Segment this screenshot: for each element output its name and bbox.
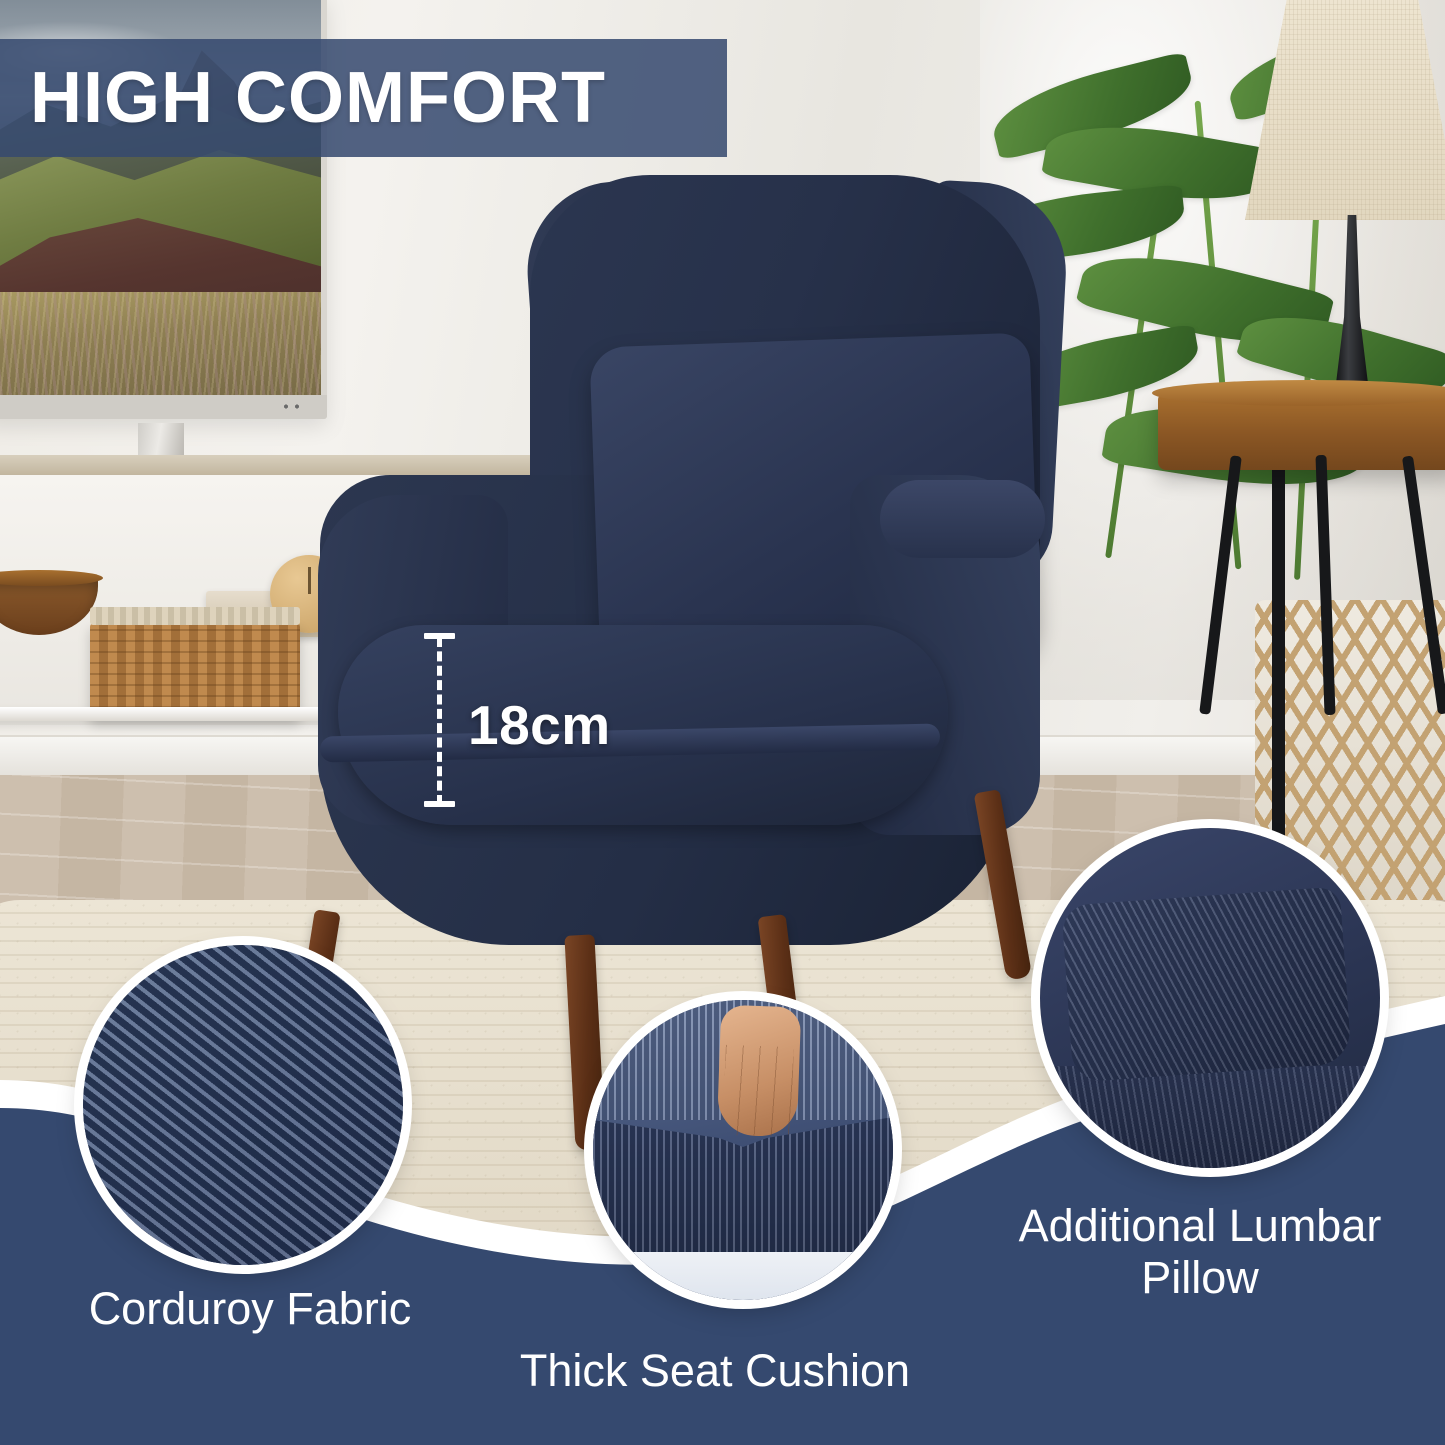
feature-label-corduroy-fabric: Corduroy Fabric — [40, 1283, 460, 1335]
dimension-cap-bottom — [424, 801, 455, 807]
hand-icon — [717, 1005, 801, 1138]
product-feature-graphic: HIGH COMFORT 18cm Corduroy Fabric Thick … — [0, 0, 1445, 1445]
feature-label-thick-seat-cushion: Thick Seat Cushion — [455, 1345, 975, 1397]
feature-image-corduroy-fabric — [83, 945, 403, 1265]
dimension-callout: 18cm — [424, 631, 584, 811]
headline-text: HIGH COMFORT — [30, 57, 606, 139]
floor-lamp-pole — [1272, 420, 1285, 850]
accent-armchair — [280, 175, 1080, 1005]
tv-image-grass — [0, 292, 321, 397]
feature-image-thick-seat-cushion — [593, 1000, 893, 1300]
chair-seat-detail — [1040, 1066, 1380, 1168]
tv-bezel — [0, 395, 327, 419]
dimension-label: 18cm — [468, 693, 611, 757]
lumbar-pillow-detail — [1061, 886, 1351, 1082]
basket-weave — [90, 623, 300, 719]
wicker-basket — [90, 623, 300, 719]
headline-banner: HIGH COMFORT — [0, 39, 727, 157]
feature-image-lumbar-pillow — [1040, 828, 1380, 1168]
chair-arm-roll — [880, 480, 1045, 558]
cushion-underside — [593, 1252, 893, 1300]
dimension-dashed-line — [437, 637, 442, 805]
feature-label-lumbar-pillow: Additional Lumbar Pillow — [960, 1200, 1440, 1304]
